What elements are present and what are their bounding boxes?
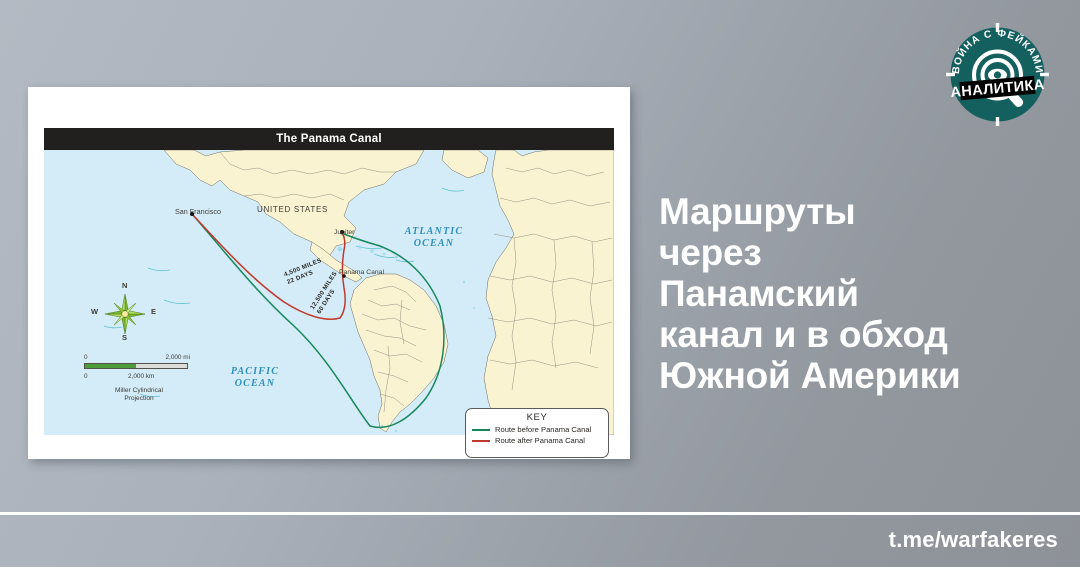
scale-km-zero: 0 (84, 373, 88, 380)
page-title: Маршруты через Панамский канал и в обход… (659, 191, 1059, 396)
scale-bar-graphic (84, 363, 188, 369)
map-card: The Panama Canal (28, 87, 630, 459)
map-key-entry-after: Route after Panama Canal (472, 436, 608, 445)
label-jupiter: Jupiter (334, 229, 354, 236)
channel-logo: ВОЙНА С ФЕЙКАМИ АНАЛИТИКА (941, 18, 1054, 131)
map-key: KEY Route before Panama Canal Route afte… (465, 408, 609, 458)
scale-bar-fill-mi (85, 364, 136, 368)
map-scale: 0 2,000 mi 0 2,000 km Miller Cylindrical… (84, 354, 194, 403)
map-key-title: KEY (466, 412, 608, 423)
key-label-before: Route before Panama Canal (495, 425, 591, 434)
scale-km-label: 2,000 km (128, 373, 154, 380)
label-panama-canal: Panama Canal (339, 269, 384, 276)
label-san-francisco: San Francisco (175, 207, 221, 216)
map-title-bar: The Panama Canal (44, 128, 614, 150)
key-swatch-green (472, 429, 490, 431)
compass-south: S (122, 333, 127, 342)
scale-miles-label: 2,000 mi (165, 354, 190, 361)
footer-divider (0, 512, 1080, 515)
compass-east: E (151, 307, 156, 316)
scale-miles-zero: 0 (84, 354, 88, 361)
key-label-after: Route after Panama Canal (495, 436, 585, 445)
key-swatch-red (472, 440, 490, 442)
compass-west: W (91, 307, 98, 316)
map-key-entry-before: Route before Panama Canal (472, 425, 608, 434)
label-united-states: UNITED STATES (257, 205, 328, 214)
logo-graphic: ВОЙНА С ФЕЙКАМИ АНАЛИТИКА (941, 18, 1054, 131)
compass-rose: N S W E (92, 283, 158, 345)
label-atlantic-ocean: ATLANTIC OCEAN (384, 226, 484, 250)
map-canvas: UNITED STATES San Francisco Jupiter Pana… (44, 150, 614, 435)
compass-north: N (122, 281, 127, 290)
label-pacific-ocean: PACIFIC OCEAN (210, 366, 300, 390)
telegram-handle: t.me/warfakeres (889, 527, 1058, 553)
map-title: The Panama Canal (276, 133, 381, 145)
map-projection-note: Miller Cylindrical Projection (84, 387, 194, 403)
